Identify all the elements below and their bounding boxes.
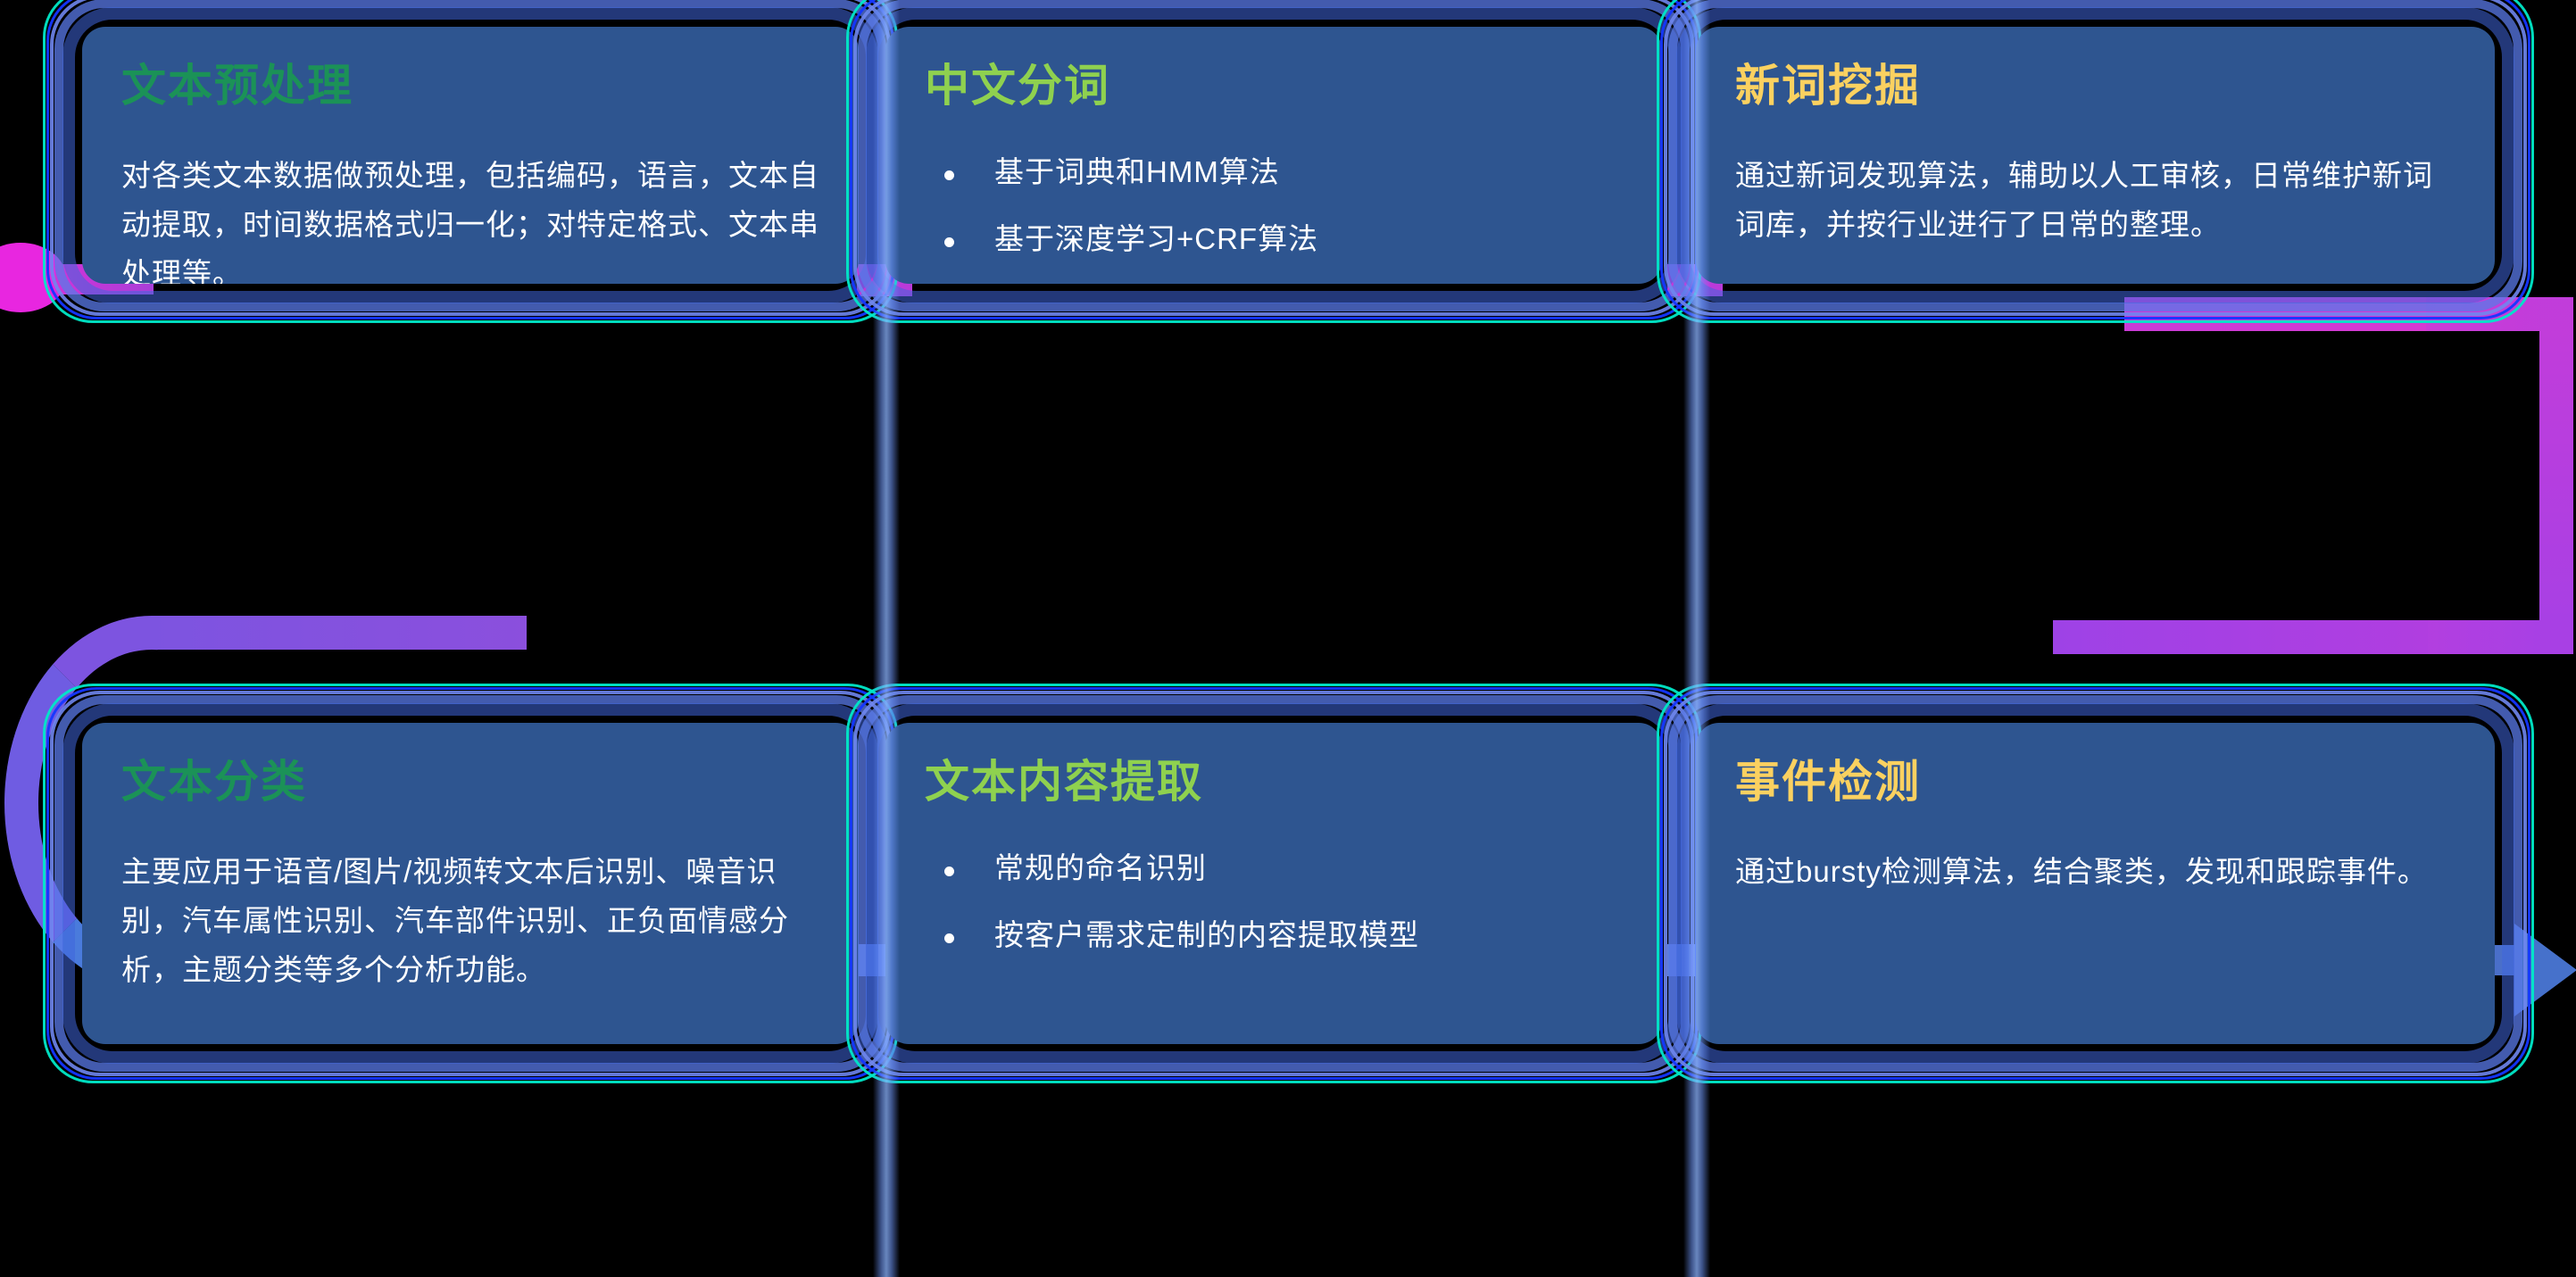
card-title: 文本内容提取	[925, 759, 1623, 806]
card-paragraph: 主要应用于语音/图片/视频转文本后识别、噪音识别，汽车属性识别、汽车部件识别、正…	[121, 847, 819, 995]
list-item: 基于词典和HMM算法	[925, 151, 1623, 194]
list-item: 按客户需求定制的内容提取模型	[925, 914, 1623, 957]
card-surface: 事件检测 通过bursty检测算法，结合聚类，发现和跟踪事件。	[1696, 723, 2495, 1044]
card-text-classification[interactable]: 文本分类 主要应用于语音/图片/视频转文本后识别、噪音识别，汽车属性识别、汽车部…	[55, 696, 885, 1071]
card-surface: 文本预处理 对各类文本数据做预处理，包括编码，语言，文本自动提取，时间数据格式归…	[82, 27, 859, 284]
card-event-detection[interactable]: 事件检测 通过bursty检测算法，结合聚类，发现和跟踪事件。	[1669, 696, 2522, 1071]
card-surface: 文本内容提取 常规的命名识别 按客户需求定制的内容提取模型	[885, 723, 1662, 1044]
card-surface: 中文分词 基于词典和HMM算法 基于深度学习+CRF算法 行业专有词典	[885, 27, 1662, 284]
process-flow-diagram: 文本预处理 对各类文本数据做预处理，包括编码，语言，文本自动提取，时间数据格式归…	[0, 0, 2576, 1277]
card-new-word-mining[interactable]: 新词挖掘 通过新词发现算法，辅助以人工审核，日常维护新词词库，并按行业进行了日常…	[1669, 0, 2522, 311]
list-item: 常规的命名识别	[925, 847, 1623, 890]
left-arc-top-bar	[152, 616, 527, 650]
card-bullet-list: 常规的命名识别 按客户需求定制的内容提取模型	[925, 847, 1623, 958]
card-surface: 文本分类 主要应用于语音/图片/视频转文本后识别、噪音识别，汽车属性识别、汽车部…	[82, 723, 859, 1044]
card-bullet-list: 基于词典和HMM算法 基于深度学习+CRF算法 行业专有词典	[925, 151, 1623, 285]
card-title: 文本预处理	[121, 62, 819, 110]
card-paragraph: 通过bursty检测算法，结合聚类，发现和跟踪事件。	[1735, 847, 2456, 896]
card-title: 事件检测	[1735, 759, 2456, 806]
card-paragraph: 通过新词发现算法，辅助以人工审核，日常维护新词词库，并按行业进行了日常的整理。	[1735, 151, 2456, 250]
card-paragraph: 对各类文本数据做预处理，包括编码，语言，文本自动提取，时间数据格式归一化；对特定…	[121, 151, 819, 285]
card-title: 中文分词	[925, 62, 1623, 110]
card-chinese-word-segmentation[interactable]: 中文分词 基于词典和HMM算法 基于深度学习+CRF算法 行业专有词典	[859, 0, 1689, 311]
right-arc-bottom-bar	[2053, 620, 2428, 654]
card-surface: 新词挖掘 通过新词发现算法，辅助以人工审核，日常维护新词词库，并按行业进行了日常…	[1696, 27, 2495, 284]
right-arc	[2279, 297, 2573, 654]
card-text-preprocessing[interactable]: 文本预处理 对各类文本数据做预处理，包括编码，语言，文本自动提取，时间数据格式归…	[55, 0, 885, 311]
flow-end-arrow	[2514, 924, 2576, 1016]
card-title: 文本分类	[121, 759, 819, 806]
card-text-content-extraction[interactable]: 文本内容提取 常规的命名识别 按客户需求定制的内容提取模型	[859, 696, 1689, 1071]
list-item: 基于深度学习+CRF算法	[925, 218, 1623, 261]
card-title: 新词挖掘	[1735, 62, 2456, 110]
